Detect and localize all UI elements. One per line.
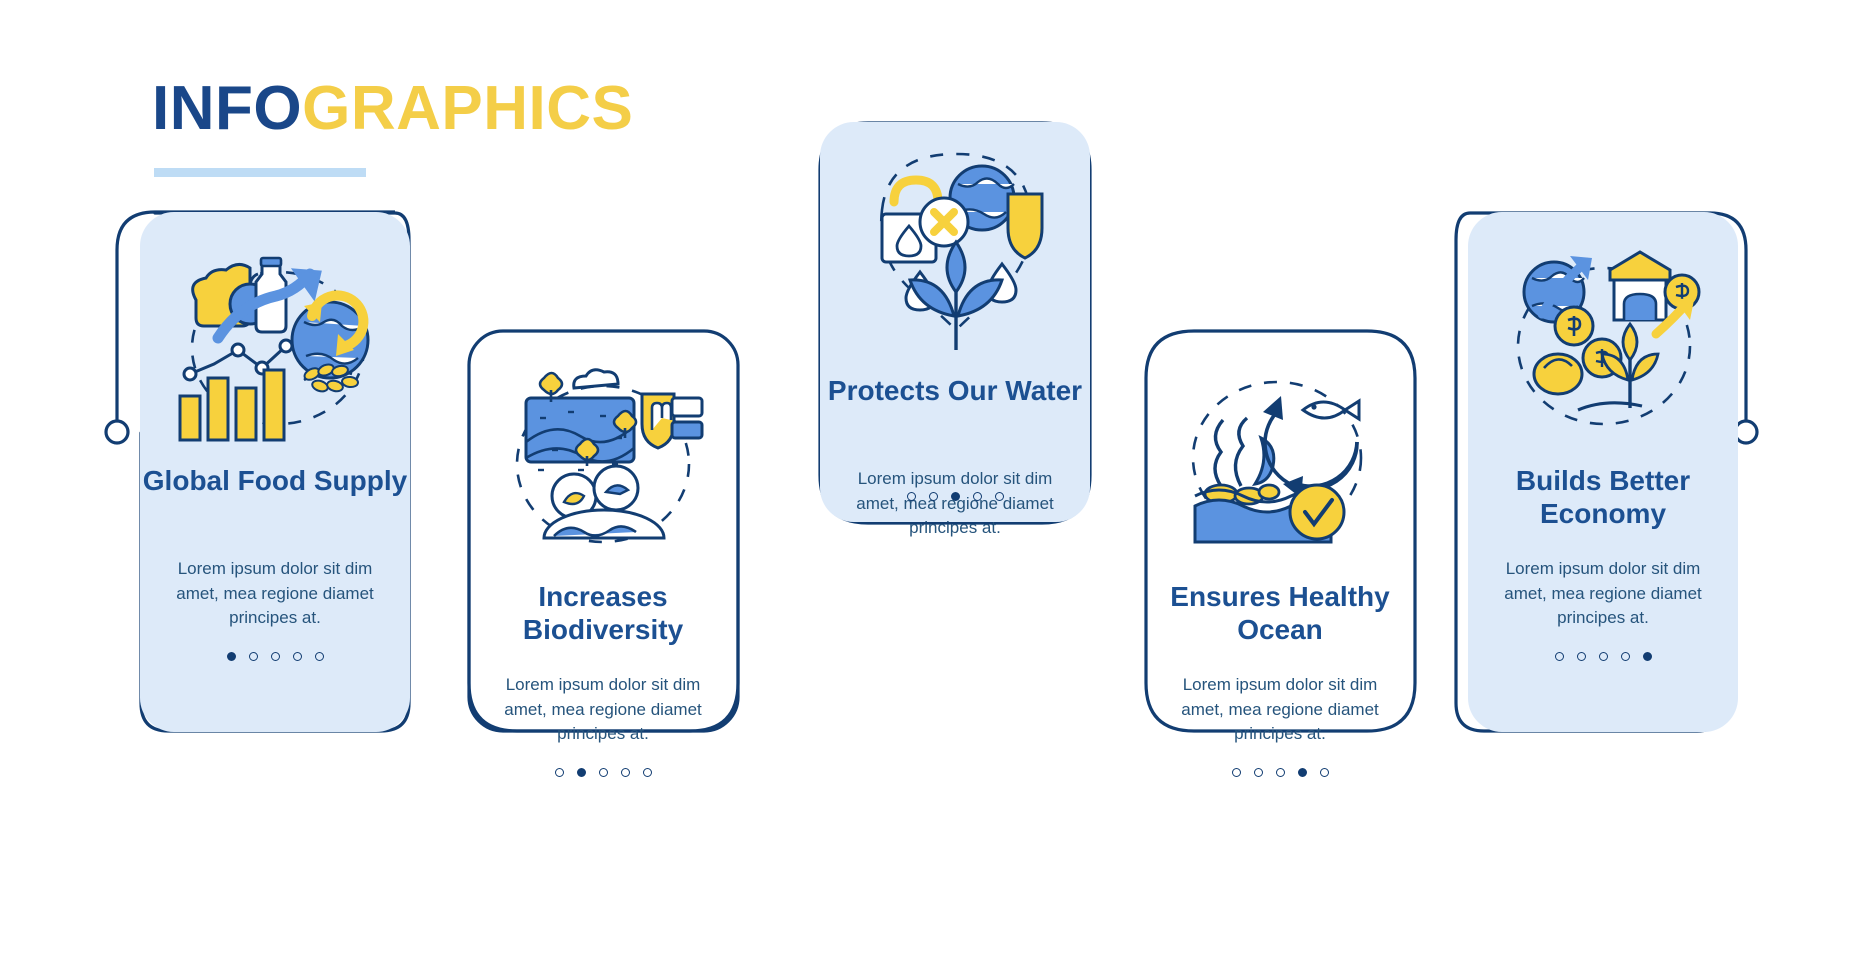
progress-dot[interactable]: [1555, 652, 1564, 661]
card-3-progress-dots[interactable]: [820, 492, 1090, 501]
progress-dot[interactable]: [1643, 652, 1652, 661]
title-part-secondary: GRAPHICS: [302, 74, 633, 143]
start-node-circle: [106, 421, 128, 443]
progress-dot[interactable]: [907, 492, 916, 501]
progress-dot[interactable]: [1599, 652, 1608, 661]
progress-dot[interactable]: [643, 768, 652, 777]
progress-dot[interactable]: [995, 492, 1004, 501]
step-card-5[interactable]: Builds Better Economy Lorem ipsum dolor …: [1468, 212, 1738, 732]
progress-dot[interactable]: [249, 652, 258, 661]
end-node-circle: [1735, 421, 1757, 443]
card-5-body: Lorem ipsum dolor sit dim amet, mea regi…: [1468, 557, 1738, 631]
title-part-primary: INFO: [152, 74, 302, 143]
card-5-title: Builds Better Economy: [1468, 464, 1738, 530]
title-underline-bar: [154, 168, 366, 177]
progress-dot[interactable]: [1621, 652, 1630, 661]
progress-dot[interactable]: [1254, 768, 1263, 777]
card-3-body: Lorem ipsum dolor sit dim amet, mea regi…: [820, 467, 1090, 541]
page-title: INFOGRAPHICS: [152, 78, 633, 140]
progress-dot[interactable]: [621, 768, 630, 777]
ensures-healthy-ocean-icon: [1159, 346, 1401, 574]
builds-better-economy-icon: [1482, 230, 1724, 460]
progress-dot[interactable]: [293, 652, 302, 661]
progress-dot[interactable]: [555, 768, 564, 777]
progress-dot[interactable]: [1232, 768, 1241, 777]
progress-dot[interactable]: [1577, 652, 1586, 661]
increases-biodiversity-icon: [482, 346, 724, 574]
progress-dot[interactable]: [227, 652, 236, 661]
infographic-canvas: INFOGRAPHICS: [0, 0, 1863, 980]
card-5-progress-dots[interactable]: [1468, 652, 1738, 661]
progress-dot[interactable]: [1298, 768, 1307, 777]
card-4-progress-dots[interactable]: [1145, 768, 1415, 777]
card-4-title: Ensures Healthy Ocean: [1145, 580, 1415, 646]
card-4-body: Lorem ipsum dolor sit dim amet, mea regi…: [1145, 673, 1415, 747]
card-1-title: Global Food Supply: [140, 464, 410, 497]
progress-dot[interactable]: [1320, 768, 1329, 777]
card-2-progress-dots[interactable]: [468, 768, 738, 777]
progress-dot[interactable]: [929, 492, 938, 501]
progress-dot[interactable]: [951, 492, 960, 501]
progress-dot[interactable]: [599, 768, 608, 777]
title-text: INFOGRAPHICS: [152, 78, 633, 140]
card-1-progress-dots[interactable]: [140, 652, 410, 661]
step-card-1[interactable]: Global Food Supply Lorem ipsum dolor sit…: [140, 212, 410, 732]
progress-dot[interactable]: [315, 652, 324, 661]
card-1-body: Lorem ipsum dolor sit dim amet, mea regi…: [140, 557, 410, 631]
progress-dot[interactable]: [271, 652, 280, 661]
step-card-4[interactable]: Ensures Healthy Ocean Lorem ipsum dolor …: [1145, 330, 1415, 850]
protects-our-water-icon: [834, 140, 1076, 370]
card-3-title: Protects Our Water: [820, 374, 1090, 407]
global-food-supply-icon: [154, 230, 396, 460]
progress-dot[interactable]: [973, 492, 982, 501]
progress-dot[interactable]: [577, 768, 586, 777]
progress-dot[interactable]: [1276, 768, 1285, 777]
step-card-2[interactable]: Increases Biodiversity Lorem ipsum dolor…: [468, 330, 738, 850]
card-2-body: Lorem ipsum dolor sit dim amet, mea regi…: [468, 673, 738, 747]
card-2-title: Increases Biodiversity: [468, 580, 738, 646]
step-card-3[interactable]: Protects Our Water Lorem ipsum dolor sit…: [820, 122, 1090, 642]
